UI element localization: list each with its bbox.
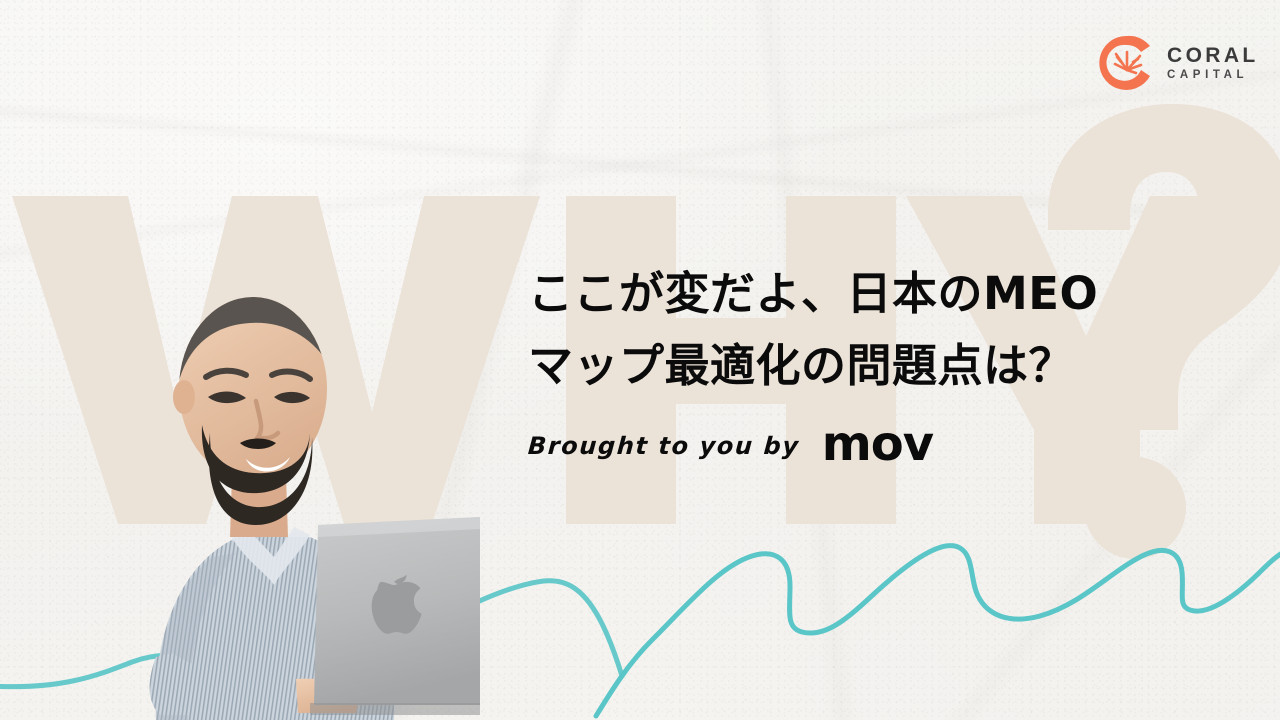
logo-wordmark: CORAL CAPITAL bbox=[1167, 45, 1259, 82]
logo-name-primary: CORAL bbox=[1167, 45, 1259, 66]
headline-block: ここが変だよ、日本のMEO マップ最適化の問題点は？ bbox=[528, 258, 1228, 402]
coral-capital-logo[interactable]: CORAL CAPITAL bbox=[1096, 32, 1259, 94]
logo-name-secondary: CAPITAL bbox=[1167, 70, 1259, 82]
slide-canvas: CORAL CAPITAL ここが変だよ、日本のMEO マップ最適化の問題点は？… bbox=[0, 0, 1280, 720]
byline-block: Brought to you by mov bbox=[528, 424, 933, 468]
speaker-portrait bbox=[60, 285, 480, 720]
byline-prefix: Brought to you by bbox=[527, 432, 801, 460]
headline-line-2: マップ最適化の問題点は？ bbox=[528, 330, 1228, 402]
coral-capital-c-mark bbox=[1096, 32, 1158, 94]
sponsor-logo-mov: mov bbox=[822, 420, 933, 468]
headline-line-1: ここが変だよ、日本のMEO bbox=[528, 258, 1228, 330]
